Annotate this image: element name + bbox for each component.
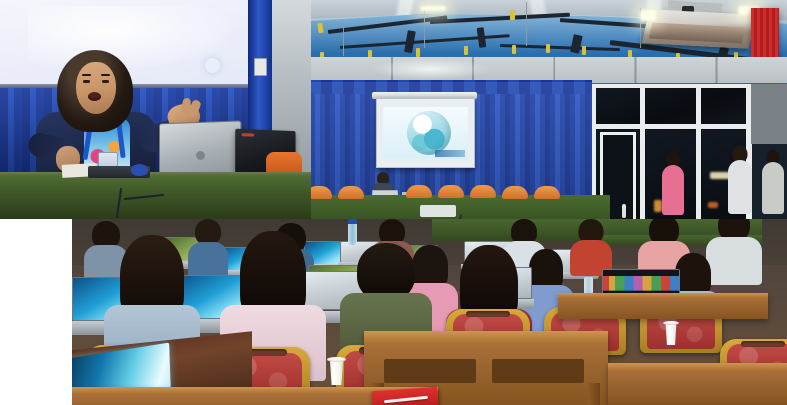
chair-handle-slot (466, 311, 510, 317)
slide-bullet-dot (205, 58, 220, 73)
ac-vent-face (649, 22, 746, 43)
person-torso (728, 160, 752, 214)
silver-laptop (159, 120, 241, 179)
wall-panel (751, 84, 787, 144)
panel-presenter-inset (0, 0, 311, 219)
wall-switch (254, 58, 267, 76)
ceiling-lamp (420, 6, 446, 11)
hanger-rod (343, 24, 344, 56)
orange-chair-back (310, 186, 332, 199)
window-frame (592, 124, 752, 129)
table-shelf (492, 359, 584, 383)
blue-mouse (131, 164, 148, 176)
tie-strap (464, 46, 468, 55)
orange-chair-back (470, 185, 496, 198)
chair-handle-slot (741, 341, 786, 347)
presenter-eye (83, 80, 90, 83)
ceiling-air-conditioner (642, 9, 757, 49)
window-pane (596, 88, 746, 124)
person-torso (762, 162, 784, 214)
window-frame (592, 84, 752, 88)
projected-slide (383, 107, 468, 159)
slide-caption-bar (435, 150, 465, 157)
hanger-rod (424, 6, 425, 48)
person-torso (662, 165, 684, 215)
projector (420, 205, 456, 217)
standing-person (662, 152, 684, 214)
orange-chair-back (338, 186, 364, 199)
table-edge (608, 363, 787, 371)
presenter-eyebrow (82, 74, 91, 76)
table-edge (364, 331, 608, 344)
standing-person (728, 146, 752, 214)
tie-strap (510, 10, 515, 20)
student (570, 219, 612, 275)
table-edge (558, 293, 768, 298)
tie-strap (416, 48, 420, 57)
water-bottle (348, 223, 357, 245)
panel-students-at-laptops (72, 219, 787, 405)
ceiling-lamp (640, 10, 656, 21)
orange-chair-back (438, 185, 464, 198)
bottle-cap (348, 219, 357, 224)
wooden-table (558, 293, 768, 319)
window-reflection (654, 200, 662, 212)
wall-glare (370, 58, 490, 80)
paper-cup-rim (663, 321, 679, 325)
window-reflection (708, 202, 718, 208)
white-margin (0, 219, 72, 405)
presenter-face (76, 62, 116, 114)
table-leg (588, 383, 600, 405)
presenter-mouth (88, 92, 101, 101)
tie-strap (512, 45, 516, 54)
tie-strap (582, 46, 586, 55)
standing-person (762, 150, 784, 214)
orange-chair-back (502, 186, 528, 199)
paper-cup-rim (327, 357, 346, 362)
presenter-eye (102, 80, 109, 83)
projection-glare (28, 6, 228, 68)
presenter-eyebrow (101, 74, 110, 76)
wooden-table (608, 363, 787, 405)
table-shelf (384, 359, 476, 383)
hanger-rod (526, 2, 527, 46)
globe-graphic-icon (407, 111, 451, 155)
green-skirted-table (0, 176, 311, 219)
projection-screen (376, 98, 475, 168)
orange-chair-back (406, 185, 432, 198)
composite-photo-figure: Composite of three photographs from a co… (0, 0, 787, 405)
tie-strap (546, 44, 550, 53)
door-handle (622, 204, 626, 218)
orange-chair-back (534, 186, 560, 199)
